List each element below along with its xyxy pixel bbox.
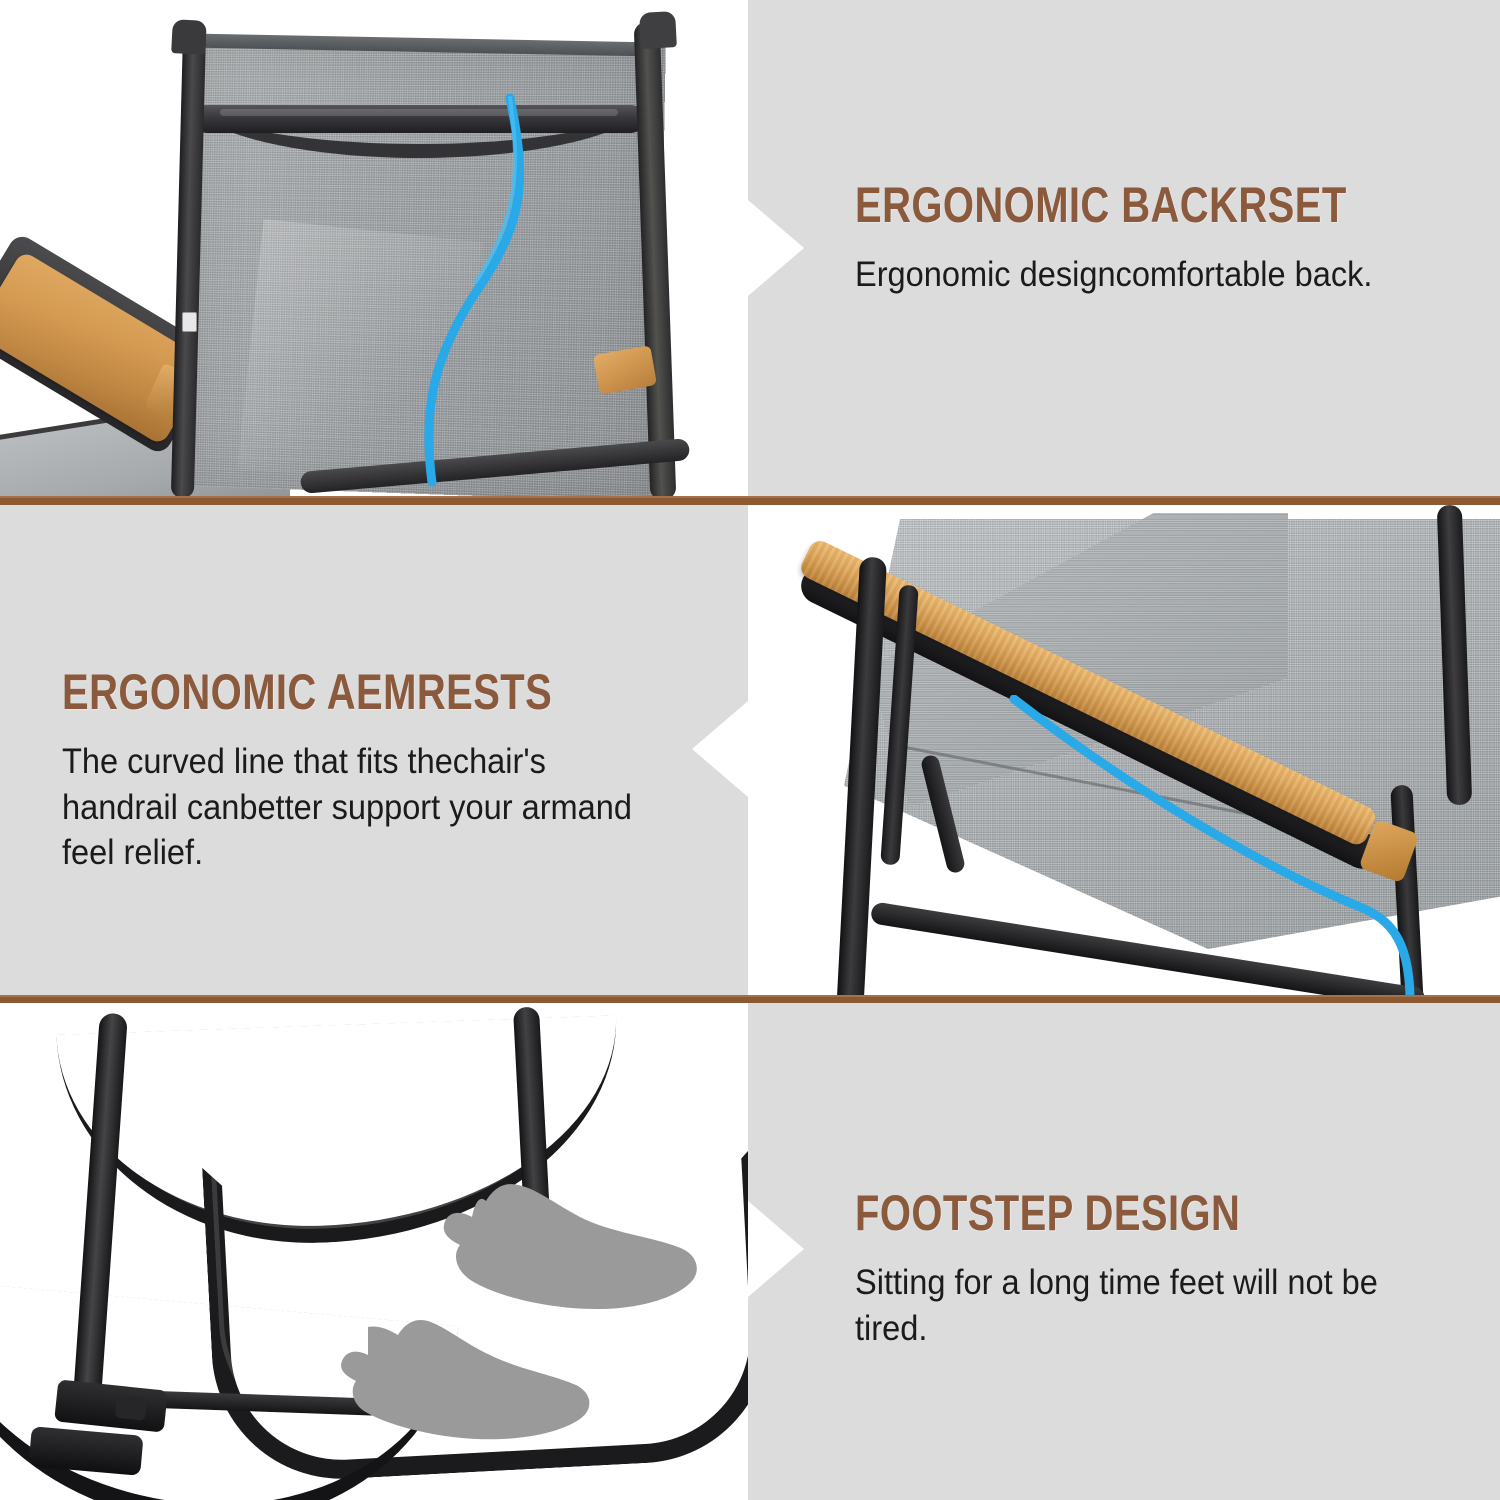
post-cap-right <box>639 11 677 49</box>
feature-text-block: ERGONOMIC AEMRESTS The curved line that … <box>62 667 682 876</box>
photo-footstep <box>0 1003 748 1500</box>
feet-silhouette-icon <box>250 1173 710 1473</box>
photo-armrest <box>748 505 1500 995</box>
ergonomic-curve-icon <box>1008 695 1468 995</box>
ergonomic-curve-icon <box>330 90 660 490</box>
divider-highlight <box>0 496 1500 498</box>
text-panel-ergonomic-armrests: ERGONOMIC AEMRESTS The curved line that … <box>0 505 748 995</box>
feature-row-footstep-design: FOOTSTEP DESIGN Sitting for a long time … <box>0 1003 1500 1500</box>
feature-heading: ERGONOMIC BACKRSET <box>855 180 1351 230</box>
divider-bar-1 <box>0 496 1500 505</box>
post-cap-left <box>171 19 207 55</box>
feature-description: Sitting for a long time feet will not be… <box>855 1260 1413 1351</box>
callout-arrow-icon <box>748 200 804 296</box>
feature-description: Ergonomic designcomfortable back. <box>855 252 1432 298</box>
photo-backrest <box>0 0 748 496</box>
feature-heading: FOOTSTEP DESIGN <box>855 1188 1335 1238</box>
text-panel-ergonomic-backrest: ERGONOMIC BACKRSET Ergonomic designcomfo… <box>748 0 1500 496</box>
backrest-scene <box>0 0 748 496</box>
divider-highlight <box>0 995 1500 997</box>
feature-text-block: FOOTSTEP DESIGN Sitting for a long time … <box>855 1188 1455 1351</box>
feature-description: The curved line that fits thechair's han… <box>62 739 639 876</box>
armrest-scene <box>748 505 1500 995</box>
product-tag <box>182 312 197 332</box>
callout-arrow-icon <box>748 1201 804 1297</box>
feature-heading: ERGONOMIC AEMRESTS <box>62 667 558 717</box>
rocker-base-scene <box>0 1003 748 1500</box>
text-panel-footstep-design: FOOTSTEP DESIGN Sitting for a long time … <box>748 1003 1500 1500</box>
callout-arrow-icon <box>692 701 748 797</box>
feature-row-ergonomic-backrest: ERGONOMIC BACKRSET Ergonomic designcomfo… <box>0 0 1500 496</box>
foot-cap-tab <box>115 1396 147 1421</box>
feature-text-block: ERGONOMIC BACKRSET Ergonomic designcomfo… <box>855 180 1475 298</box>
feature-row-ergonomic-armrests: ERGONOMIC AEMRESTS The curved line that … <box>0 505 1500 995</box>
infographic-board: ERGONOMIC BACKRSET Ergonomic designcomfo… <box>0 0 1500 1500</box>
